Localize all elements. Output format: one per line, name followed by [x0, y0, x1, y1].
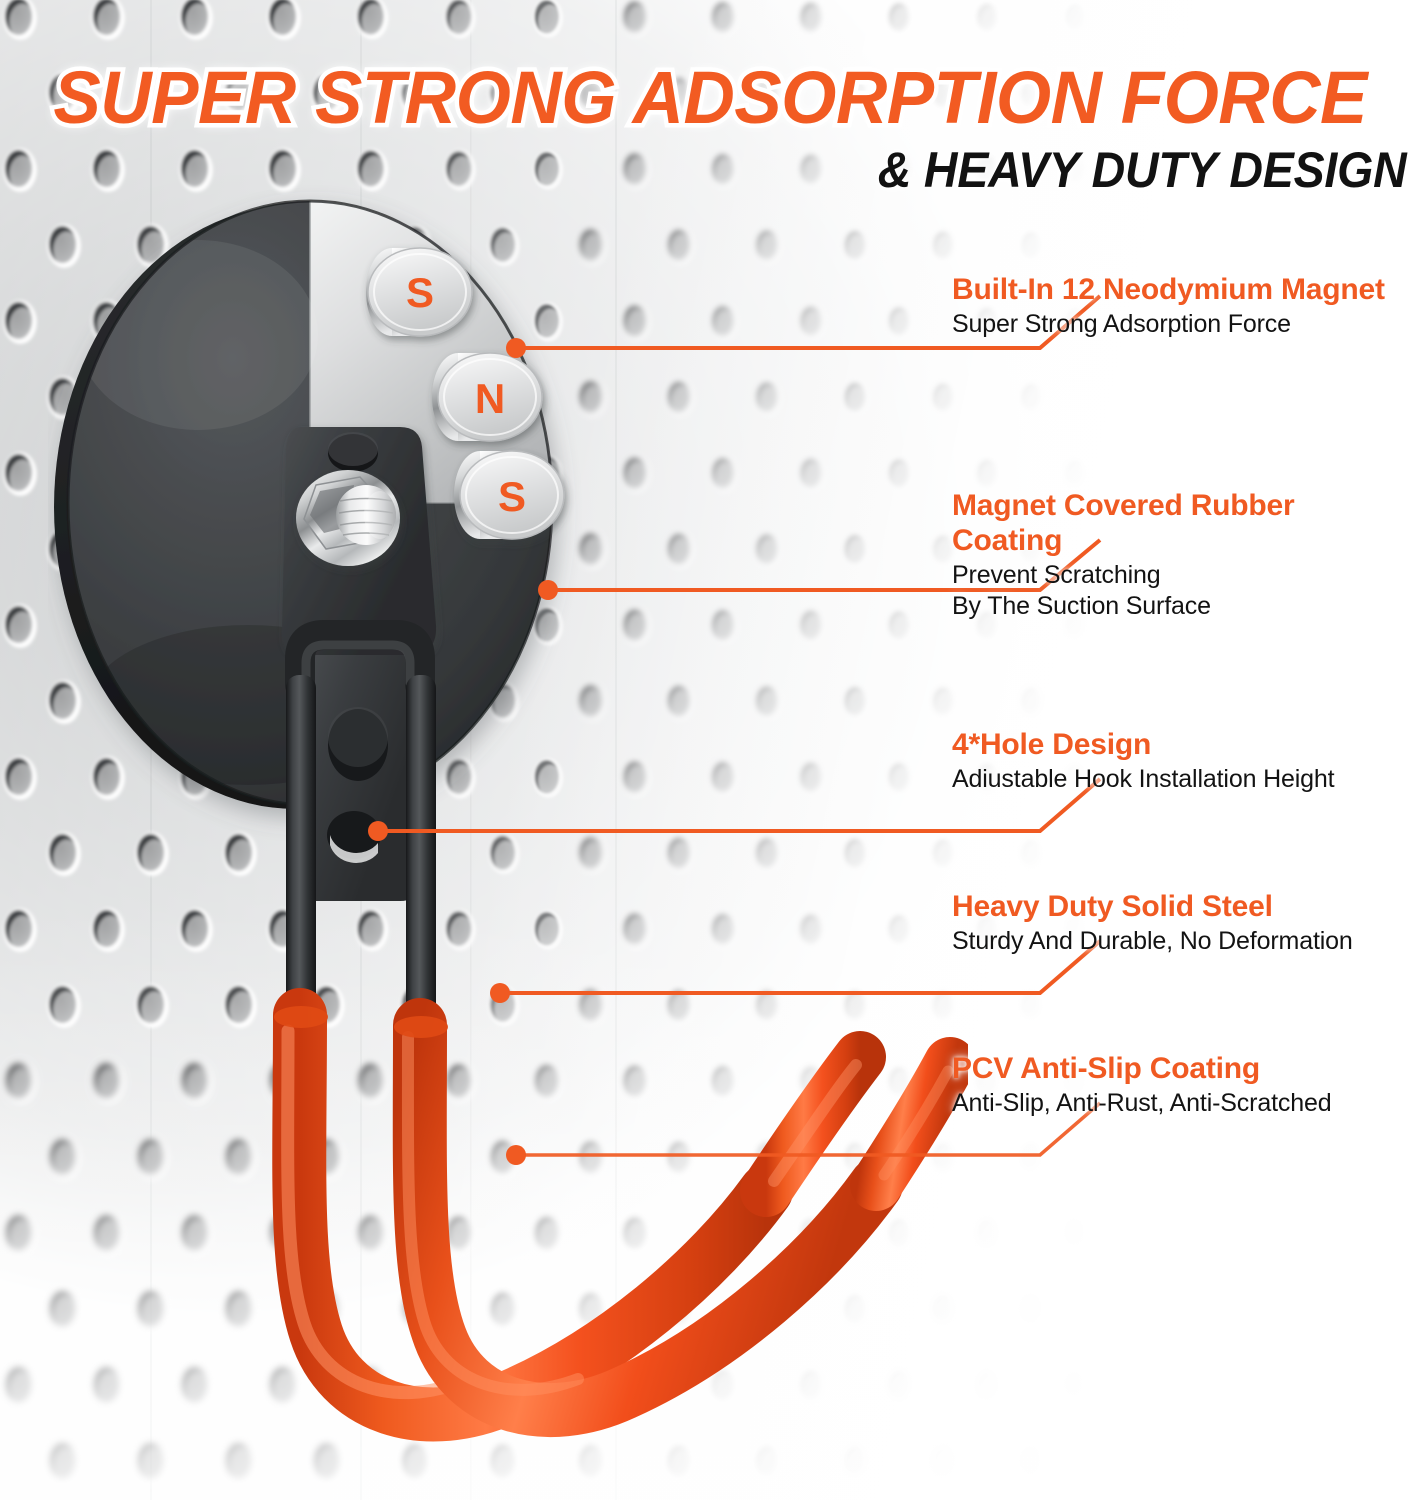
- product-infographic: S N S: [0, 0, 1421, 1500]
- callout-desc-pcv-coating: Anti-Slip, Anti-Rust, Anti-Scratched: [952, 1088, 1421, 1119]
- callout-desc-solid-steel: Sturdy And Durable, No Deformation: [952, 926, 1421, 957]
- headline-secondary: & HEAVY DUTY DESIGN: [878, 145, 1407, 195]
- callout-desc-rubber-coating-line1: Prevent Scratching: [952, 560, 1412, 591]
- magnet-puck-south-bottom: S: [454, 451, 564, 539]
- callout-hole-design: 4*Hole Design Adiustable Hook Installati…: [952, 727, 1421, 795]
- callout-desc-rubber-coating-line2: By The Suction Surface: [952, 591, 1412, 622]
- headline-primary-wrap: SUPER STRONG ADSORPTION FORCE: [0, 62, 1421, 135]
- callout-title-pcv-coating: PCV Anti-Slip Coating: [952, 1051, 1421, 1086]
- magnet-puck-north-middle: N: [432, 353, 542, 441]
- magnet-pole-label: S: [406, 269, 434, 316]
- magnet-puck-south-top: S: [366, 248, 472, 336]
- hook-right-steel-bar: [406, 675, 436, 1045]
- callout-title-hole-design: 4*Hole Design: [952, 727, 1421, 762]
- hex-bolt: [296, 470, 400, 566]
- callout-pcv-coating: PCV Anti-Slip Coating Anti-Slip, Anti-Ru…: [952, 1051, 1421, 1119]
- hook-arm-rear-pvc: [420, 1025, 876, 1410]
- callout-rubber-coating: Magnet Covered Rubber Coating Prevent Sc…: [952, 488, 1412, 621]
- callout-title-neodymium-magnet: Built-In 12 Neodymium Magnet: [952, 272, 1404, 307]
- callout-desc-neodymium-magnet: Super Strong Adsorption Force: [952, 309, 1404, 340]
- callout-title-rubber-coating: Magnet Covered Rubber Coating: [952, 488, 1412, 558]
- headline-primary: SUPER STRONG ADSORPTION FORCE: [54, 62, 1368, 135]
- magnet-pole-label: S: [498, 473, 526, 520]
- hook-left-steel-bar: [286, 675, 316, 1035]
- callout-title-solid-steel: Heavy Duty Solid Steel: [952, 889, 1421, 924]
- callout-desc-hole-design: Adiustable Hook Installation Height: [952, 764, 1421, 795]
- magnet-pole-label: N: [475, 375, 505, 422]
- magnetic-hook-product-photo: S N S: [48, 185, 968, 1475]
- callout-solid-steel: Heavy Duty Solid Steel Sturdy And Durabl…: [952, 889, 1421, 957]
- headline-secondary-wrap: & HEAVY DUTY DESIGN: [0, 145, 1421, 195]
- callout-neodymium-magnet: Built-In 12 Neodymium Magnet Super Stron…: [952, 272, 1404, 340]
